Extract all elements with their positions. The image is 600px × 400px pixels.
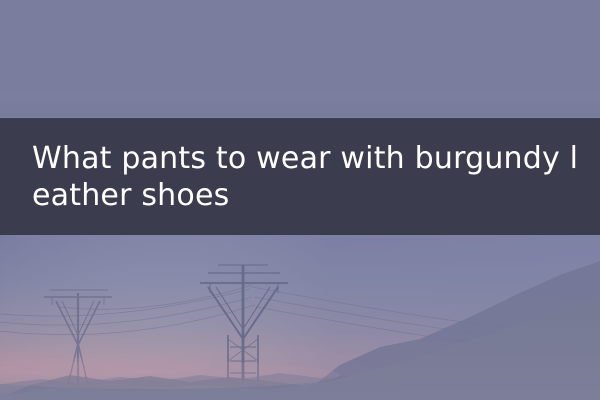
landscape-illustration <box>0 235 600 400</box>
thumbnail-canvas: What pants to wear with burgundy leather… <box>0 0 600 400</box>
top-color-panel <box>0 0 600 118</box>
page-title: What pants to wear with burgundy leather… <box>32 140 592 214</box>
caption-band: What pants to wear with burgundy leather… <box>0 118 600 235</box>
dusk-powerline-photo <box>0 235 600 400</box>
